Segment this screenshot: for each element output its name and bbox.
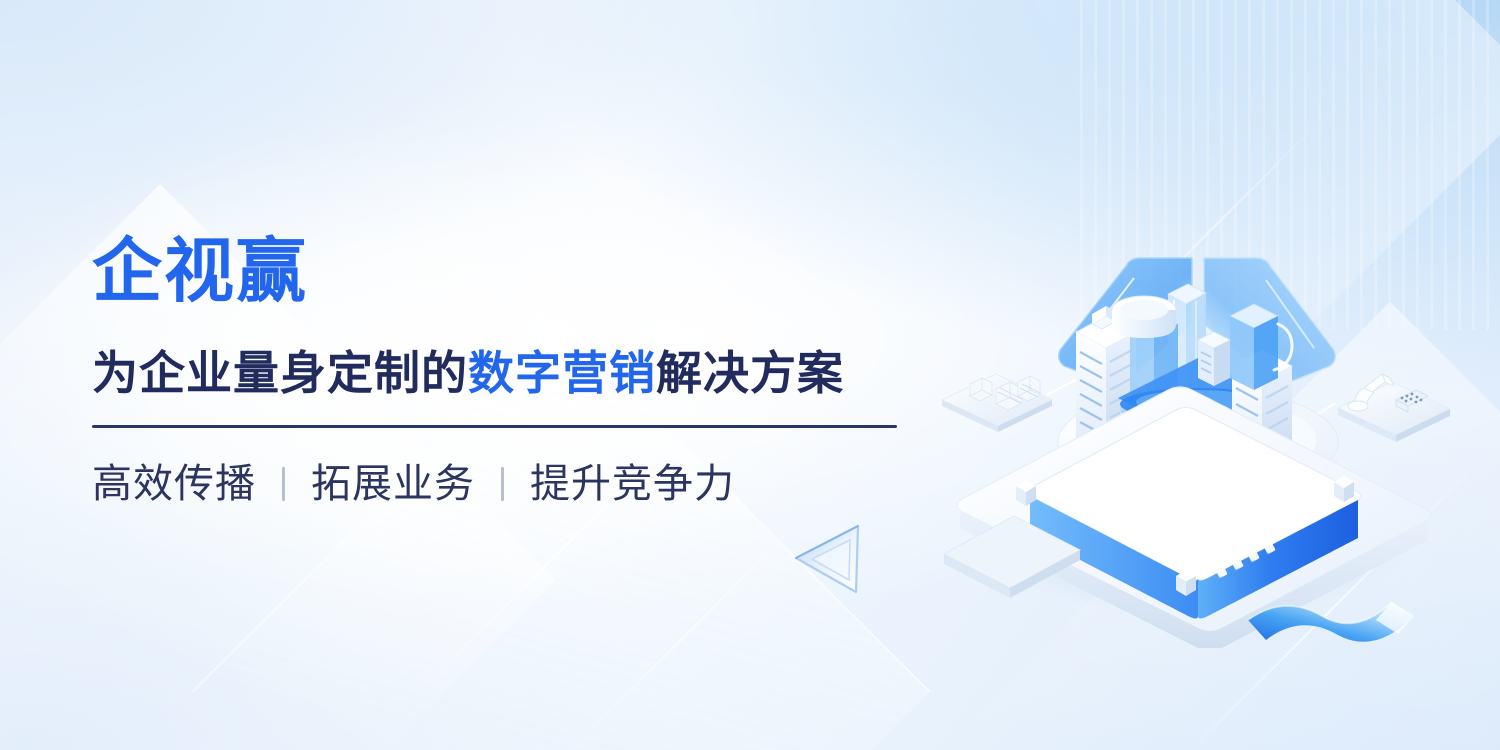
tagline: 高效传播 拓展业务 提升竞争力: [92, 464, 912, 504]
cylinder-disc-top: [1112, 296, 1176, 338]
copy-block: 企视赢 为企业量身定制的数字营销解决方案 高效传播 拓展业务 提升竞争力: [92, 236, 912, 504]
glass-triangle-icon: [786, 518, 872, 604]
headline-accent: 数字营销: [468, 347, 656, 399]
blue-wave-ribbon: [1248, 602, 1414, 642]
marketing-banner: 企视赢 为企业量身定制的数字营销解决方案 高效传播 拓展业务 提升竞争力: [0, 0, 1500, 750]
headline: 为企业量身定制的数字营销解决方案: [92, 350, 912, 396]
hero-illustration: [930, 228, 1470, 648]
square-base-platform: [944, 387, 1431, 648]
tagline-item-1: 高效传播: [92, 464, 256, 504]
tagline-separator-icon: [501, 467, 504, 501]
headline-tail: 解决方案: [656, 347, 844, 399]
brand-title: 企视赢: [92, 236, 912, 306]
divider-rule: [92, 425, 897, 428]
headline-lead: 为企业量身定制的: [92, 347, 468, 399]
mini-city-tile: [942, 374, 1052, 432]
tagline-item-2: 拓展业务: [311, 464, 475, 504]
tagline-separator-icon: [282, 467, 285, 501]
robot-arm-tile: [1338, 374, 1450, 442]
tagline-item-3: 提升竞争力: [530, 464, 735, 504]
building-small-blocks: [1198, 332, 1230, 386]
